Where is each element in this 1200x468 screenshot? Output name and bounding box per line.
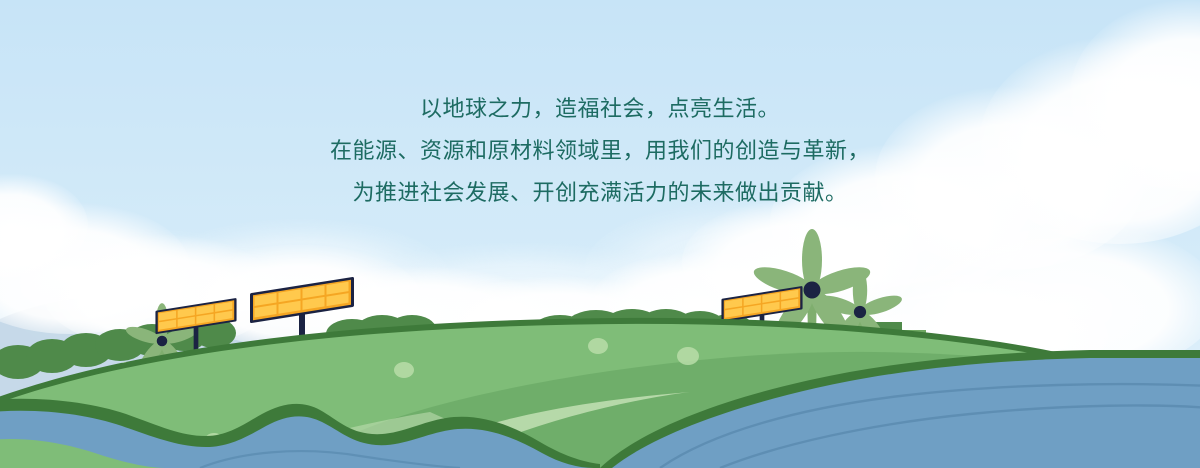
landscape-illustration — [0, 0, 1200, 468]
eco-landscape-banner: 以地球之力，造福社会，点亮生活。 在能源、资源和原材料领域里，用我们的创造与革新… — [0, 0, 1200, 468]
